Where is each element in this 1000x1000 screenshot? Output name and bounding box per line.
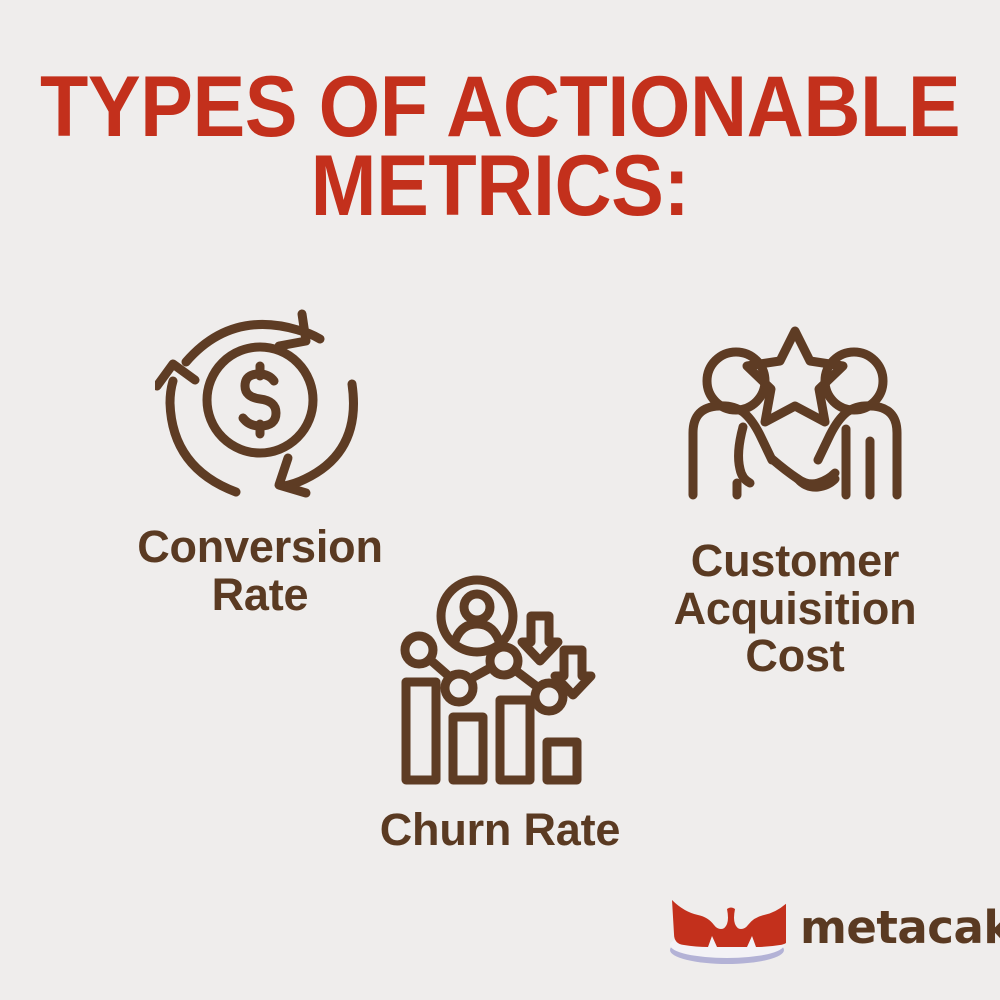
metric-churn-rate: Churn Rate	[330, 572, 670, 854]
metric-label-line-1: Conversion	[137, 521, 383, 572]
metacake-logo[interactable]: metacake	[668, 888, 1000, 966]
metric-customer-acquisition-cost: Customer Acquisition Cost	[620, 325, 970, 680]
page-title-line-1: TYPES OF ACTIONABLE	[40, 68, 960, 147]
declining-chart-user-icon	[330, 572, 670, 792]
metric-customer-acquisition-cost-label: Customer Acquisition Cost	[620, 537, 970, 680]
metric-label-line-3: Cost	[745, 630, 844, 681]
metric-churn-rate-label: Churn Rate	[330, 806, 670, 854]
metric-conversion-rate: Conversion Rate	[70, 300, 450, 618]
handshake-star-icon	[620, 325, 970, 515]
metacake-wordmark: metacake	[800, 905, 1000, 950]
metric-label-line-2: Acquisition	[674, 583, 917, 634]
page-title-line-2: METRICS:	[40, 147, 960, 226]
metric-label-line-2: Rate	[212, 569, 309, 620]
metacake-cake-m-logo-icon	[668, 888, 786, 966]
page-title: TYPES OF ACTIONABLE METRICS:	[0, 68, 1000, 226]
infographic-canvas: TYPES OF ACTIONABLE METRICS:	[0, 0, 1000, 1000]
metric-label-line-1: Customer	[691, 535, 899, 586]
dollar-cycle-icon	[70, 300, 450, 505]
